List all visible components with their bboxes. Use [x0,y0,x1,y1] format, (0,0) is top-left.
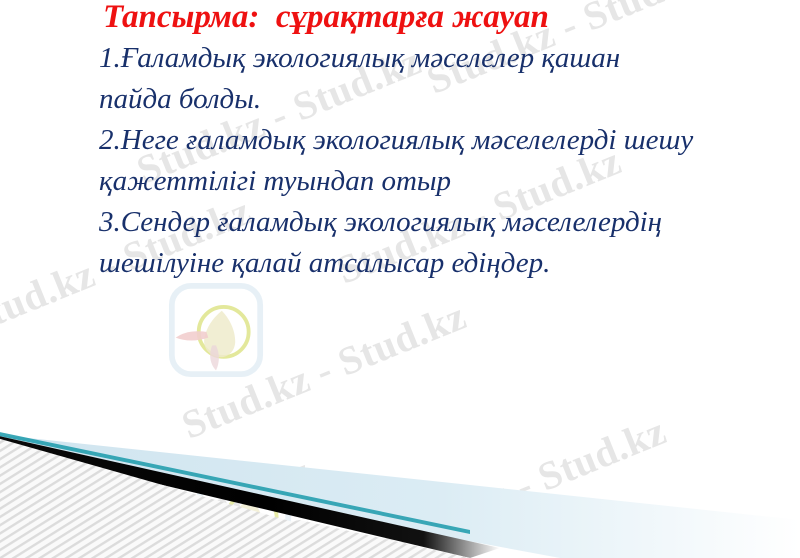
corner-decoration [0,400,800,558]
body-line: пайда болды. [99,79,799,120]
stud-kz-bird-logo-icon [168,282,264,378]
slide-body: 1.Ғаламдық экологиялық мәселелер қашан п… [99,38,799,284]
slide-canvas: Stud.kz - Stud.kz Stud.kz - Stud.kz Stud… [0,0,800,558]
watermark-text: Stud.kz - Stud.kz [375,407,673,558]
body-line: қажеттілігі туындап отыр [99,161,799,202]
stud-kz-bird-logo-icon [196,468,292,558]
watermark-text: Stud.kz - Stud.kz [175,292,473,449]
body-line: 3.Сендер ғаламдық экологиялық мәселелерд… [99,202,799,243]
body-line: 1.Ғаламдық экологиялық мәселелер қашан [99,38,799,79]
watermark-text: Stud.kz - Stud.kz [20,447,318,558]
body-line: шешілуіне қалай атсалысар едіңдер. [99,243,799,284]
body-line: 2.Неге ғаламдық экологиялық мәселелерді … [99,120,799,161]
slide-title: Тапсырма: сұрақтарға жауап [103,0,549,38]
